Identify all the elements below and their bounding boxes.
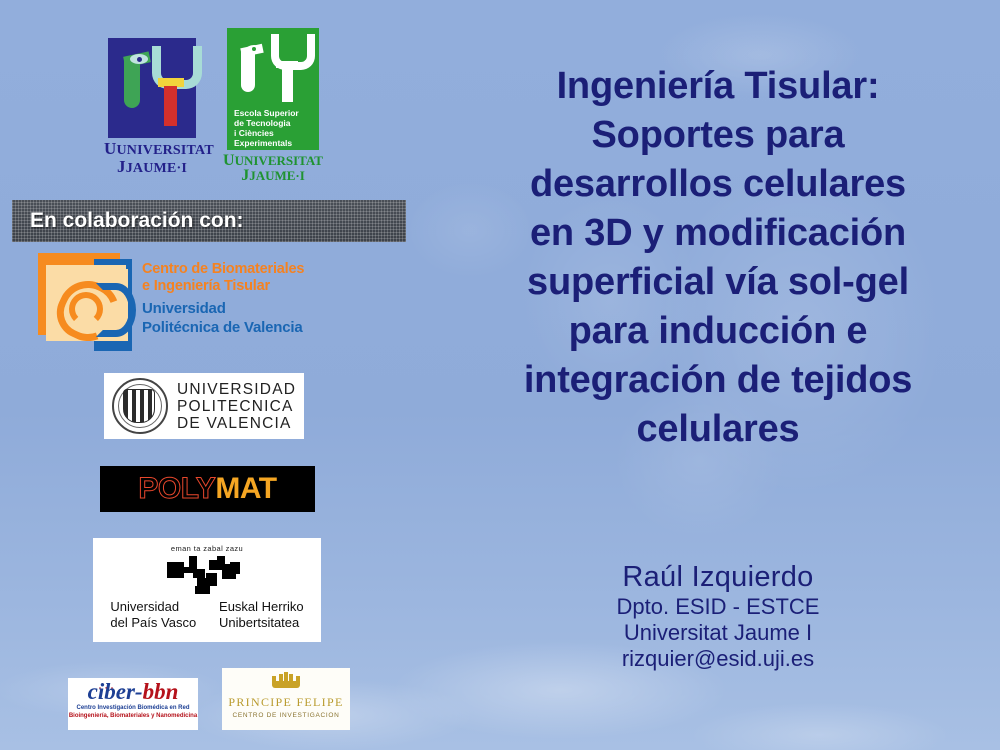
principe-felipe-subtitle: CENTRO DE INVESTIGACION (222, 712, 350, 719)
author-name: Raúl Izquierdo (448, 560, 988, 594)
ciber-wordmark: ciber-bbn (68, 679, 198, 704)
estce-emblem-icon: Escola Superior de Tecnologia i Ciències… (227, 28, 319, 150)
title-line: en 3D y modificación (448, 209, 988, 258)
title-line: Soportes para (448, 111, 988, 160)
logo-polymat: POLYMAT (100, 466, 315, 512)
title-line: desarrollos celulares (448, 160, 988, 209)
author-block: Raúl Izquierdo Dpto. ESID - ESTCE Univer… (448, 560, 988, 672)
crown-icon (272, 674, 300, 690)
ciber-subtitle-1: Centro Investigación Biomédica en Red (68, 704, 198, 712)
logo-estce-uji: Escola Superior de Tecnologia i Ciències… (218, 28, 328, 183)
estce-subtitle: Escola Superior de Tecnologia i Ciències… (234, 108, 314, 148)
presentation-slide: UUNIVERSITAT JJAUME·I Escola Superior de… (0, 0, 1000, 750)
ehu-motto: eman ta zabal zazu (93, 544, 321, 553)
title-line: celulares (448, 405, 988, 454)
logo-cbit-upv: Centro de Biomateriales e Ingeniería Tis… (38, 253, 378, 353)
logo-universitat-jaume-i: UUNIVERSITAT JJAUME·I (104, 38, 200, 177)
title-line: superficial vía sol-gel (448, 258, 988, 307)
author-institution: Universitat Jaume I (448, 620, 988, 646)
ciber-dots-icon: ··· (98, 680, 116, 694)
title-line: integración de tejidos (448, 356, 988, 405)
collaboration-banner-label: En colaboración con: (30, 209, 244, 233)
uji-emblem-icon (108, 38, 196, 138)
author-email: rizquier@esid.uji.es (448, 646, 988, 672)
cbit-subtitle: Universidad Politécnica de Valencia (142, 299, 302, 337)
logo-upv: UNIVERSIDAD POLITECNICA DE VALENCIA (104, 373, 304, 439)
uji-logo-text: UUNIVERSITAT JJAUME·I (104, 141, 200, 177)
polymat-poly-text: POLY (138, 472, 215, 506)
slide-title: Ingeniería Tisular: Soportes para desarr… (448, 62, 988, 454)
logo-ehu-upv: eman ta zabal zazu Universidad del País … (93, 538, 321, 642)
ehu-names: Universidad del País Vasco Euskal Herrik… (93, 599, 321, 631)
upv-seal-icon (112, 378, 168, 434)
author-department: Dpto. ESID - ESTCE (448, 594, 988, 620)
logo-ciber-bbn: ··· ciber-bbn Centro Investigación Biomé… (68, 678, 198, 730)
ehu-emblem-icon (167, 556, 247, 594)
principe-felipe-title: PRINCIPE FELIPE (222, 695, 350, 710)
cbit-hook-icon (96, 283, 136, 337)
ciber-subtitle-2: Bioingeniería, Biomateriales y Nanomedic… (68, 712, 198, 720)
title-line: para inducción e (448, 307, 988, 356)
estce-logo-text: UUNIVERSITAT JJAUME·I (218, 153, 328, 183)
ehu-name-eu: Euskal Herriko Unibertsitatea (219, 599, 304, 631)
ehu-name-es: Universidad del País Vasco (110, 599, 196, 631)
logo-principe-felipe: PRINCIPE FELIPE CENTRO DE INVESTIGACION (222, 668, 350, 730)
collaboration-banner: En colaboración con: (12, 200, 406, 242)
cbit-title: Centro de Biomateriales e Ingeniería Tis… (142, 261, 304, 295)
upv-name: UNIVERSIDAD POLITECNICA DE VALENCIA (177, 381, 296, 432)
polymat-mat-text: MAT (215, 472, 276, 506)
title-line: Ingeniería Tisular: (448, 62, 988, 111)
